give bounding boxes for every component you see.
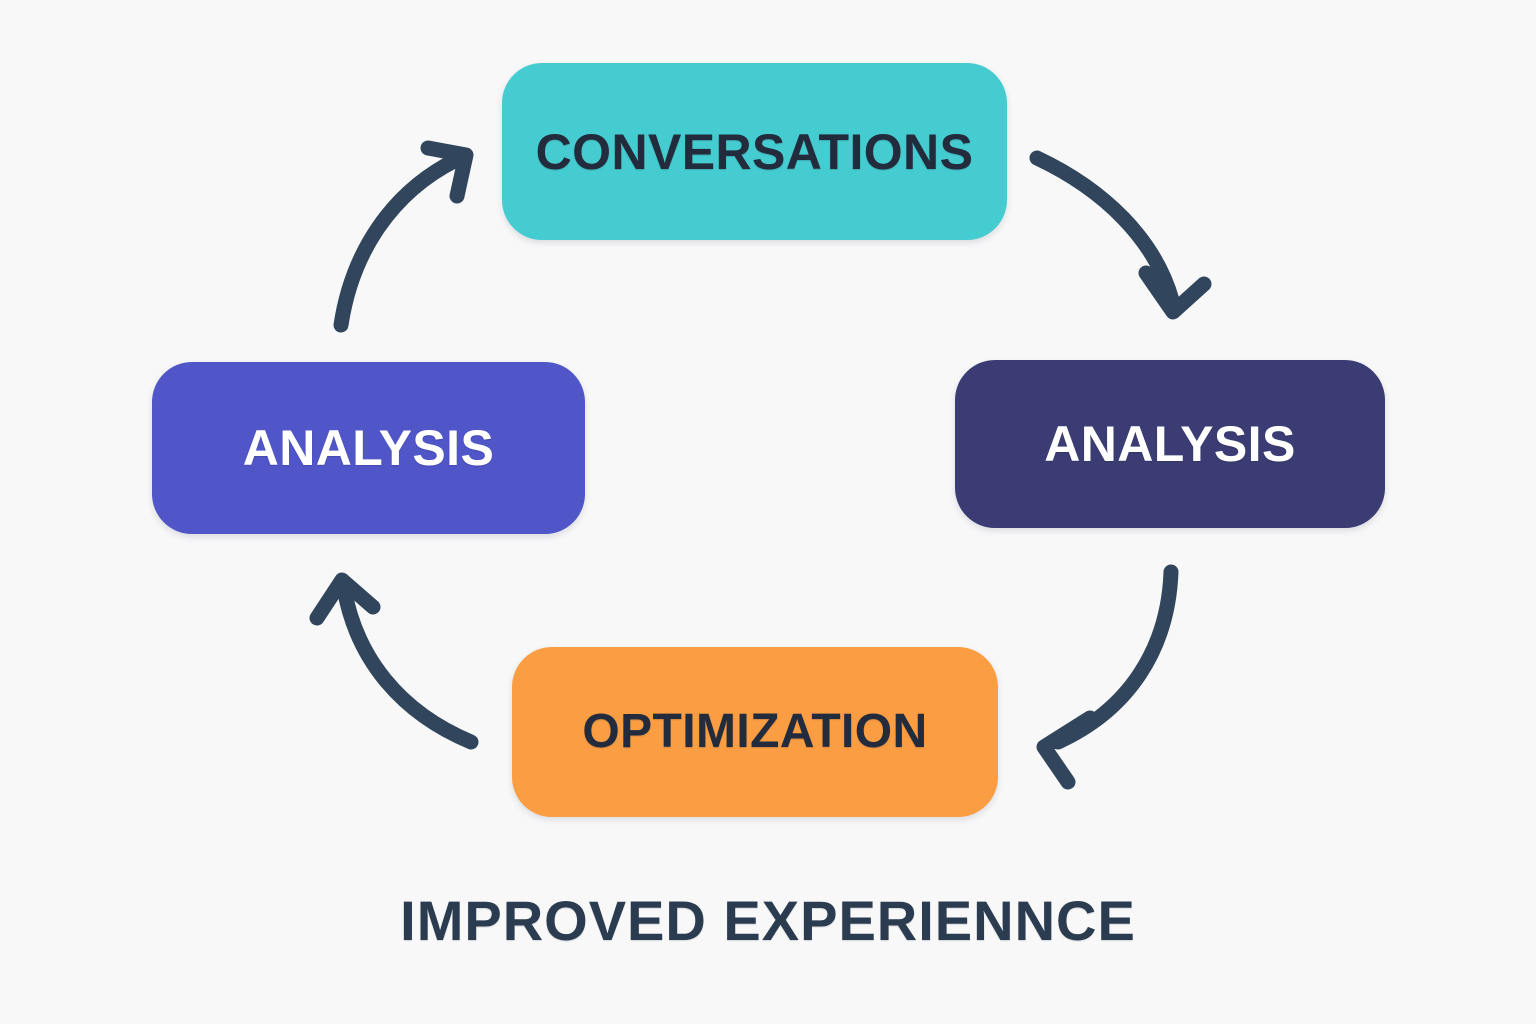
node-conversations-label: CONVERSATIONS (536, 127, 974, 177)
node-optimization[interactable]: OPTIMIZATION (512, 647, 998, 817)
arrow-analysis-right-to-optimization (1044, 572, 1171, 782)
arrow-optimization-to-analysis-left (317, 580, 471, 742)
node-analysis-right-label: ANALYSIS (1044, 419, 1295, 469)
arrow-conversations-to-analysis-right (1037, 158, 1204, 312)
node-conversations[interactable]: CONVERSATIONS (502, 63, 1007, 240)
cycle-diagram: CONVERSATIONS ANALYSIS OPTIMIZATION ANAL… (0, 0, 1536, 1024)
arrow-analysis-left-to-conversations (341, 148, 466, 325)
node-analysis-left[interactable]: ANALYSIS (152, 362, 585, 534)
node-analysis-right[interactable]: ANALYSIS (955, 360, 1385, 528)
node-analysis-left-label: ANALYSIS (243, 423, 494, 473)
node-optimization-label: OPTIMIZATION (582, 708, 927, 756)
diagram-caption: IMPROVED EXPERIENNCE (0, 888, 1536, 953)
